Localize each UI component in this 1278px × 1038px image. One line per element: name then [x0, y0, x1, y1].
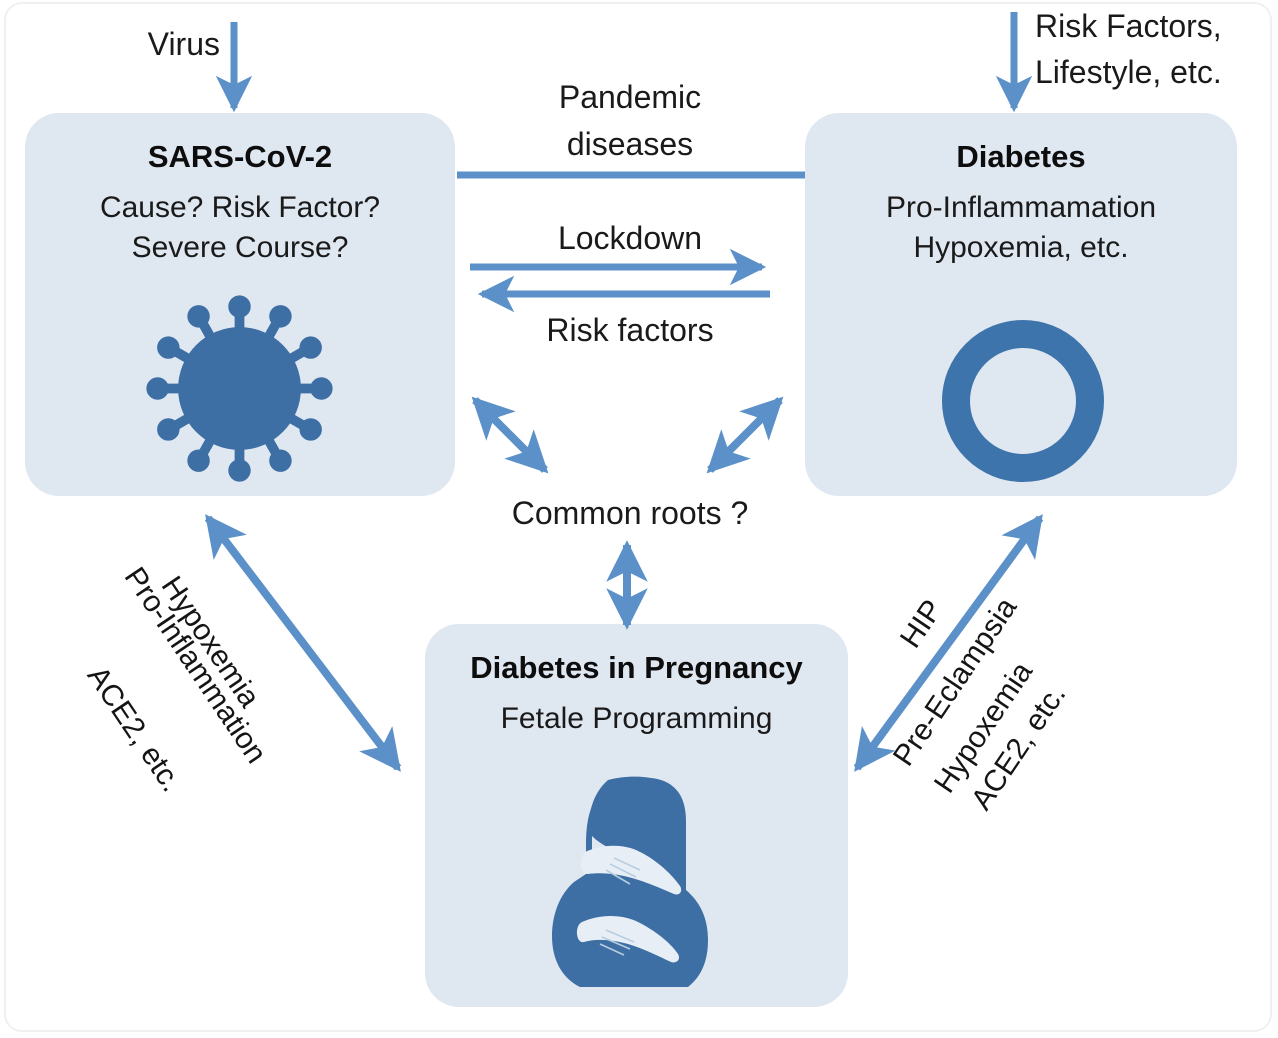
node-box-sars-cov-2[interactable]: SARS-CoV-2 Cause? Risk Factor? Severe Co… — [25, 113, 455, 496]
diabetes-subtitle-line-2: Hypoxemia, etc. — [805, 230, 1237, 265]
right-diagonal-label-hip: HIP — [894, 594, 950, 654]
arrow-common-roots-to-sars — [475, 400, 545, 470]
label-pandemic-diseases-line-1: Pandemic — [470, 79, 790, 115]
blue-circle-ring-icon — [938, 316, 1108, 486]
label-common-roots: Common roots ? — [470, 495, 790, 531]
diabetes-subtitle-line-1: Pro-Inflammamation — [805, 190, 1237, 225]
node-box-diabetes-in-pregnancy[interactable]: Diabetes in Pregnancy Fetale Programming — [425, 624, 848, 1007]
left-diagonal-label-ace2: ACE2, etc. — [80, 660, 188, 798]
label-risk-factors-line-1: Risk Factors, — [1035, 8, 1278, 44]
label-pandemic-diseases-line-2: diseases — [470, 126, 790, 162]
sars-subtitle-line-1: Cause? Risk Factor? — [25, 190, 455, 225]
pregnant-woman-icon — [530, 774, 740, 989]
node-box-diabetes[interactable]: Diabetes Pro-Inflammamation Hypoxemia, e… — [805, 113, 1237, 496]
diagram-canvas: SARS-CoV-2 Cause? Risk Factor? Severe Co… — [0, 0, 1278, 1038]
arrow-common-roots-to-diabetes — [710, 400, 780, 470]
label-risk-factors-line-2: Lifestyle, etc. — [1035, 54, 1278, 90]
pregnancy-title: Diabetes in Pregnancy — [425, 651, 848, 686]
label-lockdown: Lockdown — [470, 220, 790, 256]
pregnancy-subtitle-line-1: Fetale Programming — [425, 701, 848, 736]
sars-title: SARS-CoV-2 — [25, 140, 455, 175]
diabetes-title: Diabetes — [805, 140, 1237, 175]
sars-subtitle-line-2: Severe Course? — [25, 230, 455, 265]
label-virus: Virus — [120, 26, 220, 62]
label-risk-factors-reverse: Risk factors — [470, 312, 790, 348]
coronavirus-icon — [137, 291, 342, 486]
